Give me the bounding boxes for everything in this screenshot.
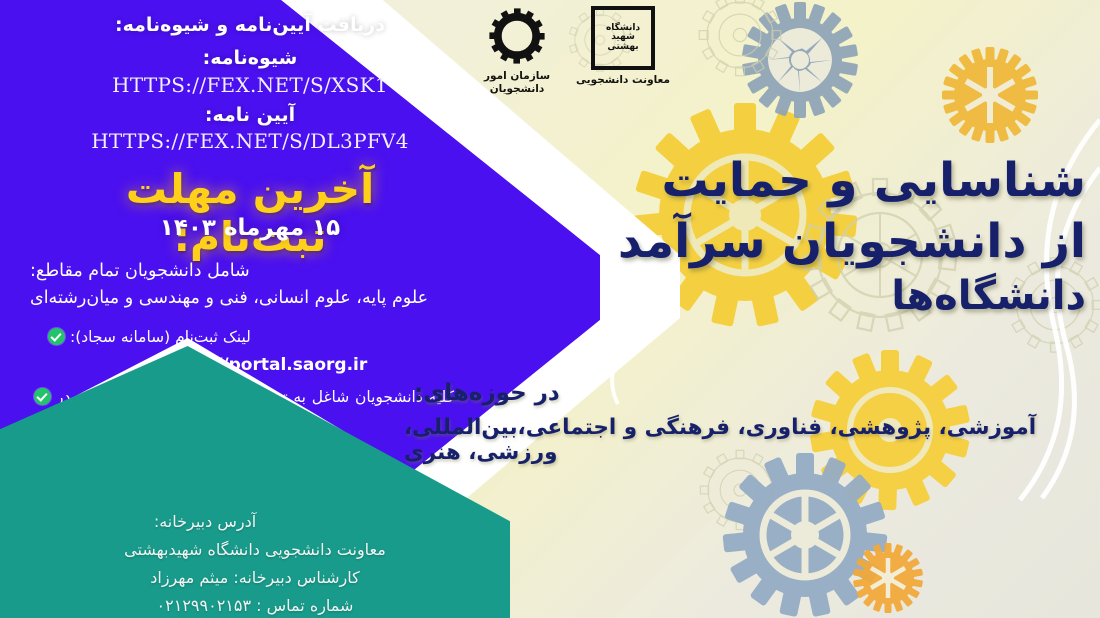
organization-logo: سازمان امور دانشجویان: [484, 6, 550, 95]
university-mark-text: دانشگاه شهید بهشتی: [595, 24, 651, 52]
gear-steel-top: [742, 2, 858, 118]
secretariat-line-2: کارشناس دبیرخانه: میثم مهرزاد: [0, 564, 520, 592]
organization-caption-line-1: سازمان امور: [484, 70, 550, 82]
secretariat-line-1: معاونت دانشجویی دانشگاه شهیدبهشتی: [0, 536, 520, 564]
bullet-1-text: لینک ثبت‌نام (سامانه سجاد):: [70, 325, 251, 350]
download-1-url[interactable]: HTTPS://FEX.NET/S/XSK1: [60, 73, 440, 97]
check-badge-icon: [48, 328, 65, 345]
eligibility-line-2: علوم پایه، علوم انسانی، فنی و مهندسی و م…: [16, 285, 460, 312]
fields-label: در حوزه‌های:: [404, 380, 1084, 406]
download-2-url[interactable]: HTTPS://FEX.NET/S/DL3PFV4: [60, 129, 440, 153]
shahid-beheshti-university-mark-icon: دانشگاه شهید بهشتی: [591, 6, 655, 70]
university-logo-caption: معاونت دانشجویی: [576, 74, 670, 86]
secretariat-phone: شماره تماس : ۰۲۱۲۹۹۰۲۱۵۳: [0, 592, 520, 618]
eligibility-line-1: شامل دانشجویان تمام مقاطع:: [16, 258, 460, 285]
student-affairs-sunburst-icon: [487, 6, 547, 66]
headline-line-1: شناسایی و حمایت: [476, 150, 1086, 211]
gear-orange-bottom: [853, 543, 923, 613]
download-1-label: شیوه‌نامه:: [60, 47, 440, 69]
deadline-title: آخرین مهلت ثبت‌نام:: [50, 165, 450, 261]
logo-row: دانشگاه شهید بهشتی معاونت دانشجویی: [425, 6, 670, 110]
university-logo: دانشگاه شهید بهشتی معاونت دانشجویی: [576, 6, 670, 86]
gear-orange-small: [942, 47, 1038, 143]
secretariat-block: آدرس دبیرخانه: معاونت دانشجویی دانشگاه ش…: [0, 508, 520, 618]
headline-line-3: دانشگاه‌ها: [476, 270, 1086, 322]
headline-line-2: از دانشجویان سرآمد: [476, 211, 1086, 272]
secretariat-title: آدرس دبیرخانه:: [0, 508, 520, 536]
poster-canvas: دریافت آیین‌نامه و شیوه‌نامه: شیوه‌نامه:…: [0, 0, 1100, 618]
fields-values: آموزشی، پژوهشی، فناوری، فرهنگی و اجتماعی…: [404, 415, 1084, 465]
check-badge-icon: [34, 388, 51, 405]
gear-steel-bottom: [723, 453, 888, 617]
page-title: شناسایی و حمایت از دانشجویان سرآمد دانشگ…: [476, 150, 1086, 322]
download-2-label: آیین نامه:: [60, 104, 440, 126]
deadline-date: ۱۵ مهرماه ۱۴۰۳: [50, 215, 450, 241]
list-item-registration[interactable]: لینک ثبت‌نام (سامانه سجاد):: [20, 325, 460, 350]
organization-caption-line-2: دانشجویان: [490, 83, 545, 95]
fields-section: در حوزه‌های: آموزشی، پژوهشی، فناوری، فره…: [404, 380, 1084, 465]
downloads-title: دریافت آیین‌نامه و شیوه‌نامه:: [60, 14, 440, 36]
